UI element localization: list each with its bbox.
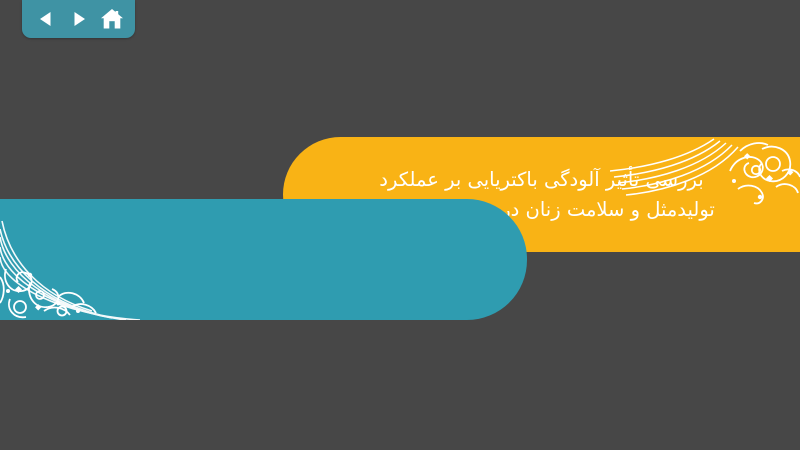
arabesque-ornament-icon <box>0 215 200 320</box>
navigation-bar <box>22 0 135 38</box>
home-icon <box>100 8 124 30</box>
previous-button[interactable] <box>31 4 61 34</box>
slide-title-line-1: بررسی تأثیر آلودگی باکتریایی بر عملکرد <box>309 165 774 195</box>
next-button[interactable] <box>64 4 94 34</box>
accent-banner-teal <box>0 199 527 320</box>
triangle-left-icon <box>36 9 56 29</box>
presentation-slide: بررسی تأثیر آلودگی باکتریایی بر عملکرد ت… <box>0 0 800 450</box>
triangle-right-icon <box>69 9 89 29</box>
home-button[interactable] <box>97 4 127 34</box>
